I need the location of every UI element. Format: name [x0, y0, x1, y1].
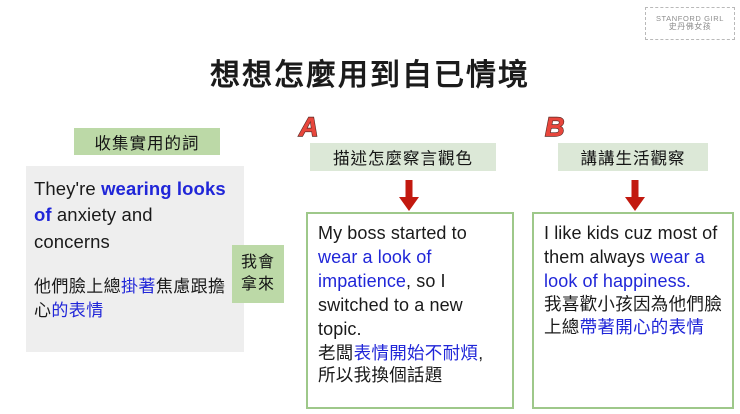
take-it-chip-line2: 拿來	[241, 274, 275, 296]
quote-en-part2: anxiety and concerns	[34, 204, 153, 251]
marker-letter-a: A	[299, 114, 319, 141]
vocab-quote-chinese: 他們臉上總掛著焦慮跟擔心的表情	[34, 275, 232, 324]
slide-root: STANFORD GIRL 史丹佛女孩 想想怎麼用到自已情境 收集實用的詞 Th…	[0, 0, 740, 414]
header-describe-reading-faces: 描述怎麼察言觀色	[310, 143, 496, 171]
mid-zh-part1: 老闆	[318, 343, 354, 363]
quote-en-part1: They're	[34, 178, 101, 199]
vocab-quote-english: They're wearing looks of anxiety and con…	[34, 176, 232, 255]
down-arrow-icon-middle	[398, 180, 420, 212]
example-card-middle: My boss started to wear a look of impati…	[306, 212, 514, 409]
right-zh-highlight: 帶著開心的表情	[580, 317, 705, 337]
down-arrow-icon-right	[624, 180, 646, 212]
example-right-english: I like kids cuz most of them always wear…	[544, 221, 724, 293]
example-card-right: I like kids cuz most of them always wear…	[532, 212, 734, 409]
mid-zh-highlight: 表情開始不耐煩	[354, 343, 479, 363]
quote-zh-highlight2: 的表情	[51, 301, 103, 320]
take-it-chip-line1: 我會	[241, 252, 275, 274]
header-life-observation: 講講生活觀察	[558, 143, 708, 171]
vocab-quote-panel: They're wearing looks of anxiety and con…	[26, 166, 244, 352]
header-collect-words: 收集實用的詞	[74, 128, 220, 155]
take-it-chip: 我會 拿來	[232, 245, 284, 303]
brand-name-zh: 史丹佛女孩	[669, 23, 712, 32]
marker-letter-b: B	[545, 114, 565, 141]
mid-en-part1: My boss started to	[318, 223, 467, 243]
page-title: 想想怎麼用到自已情境	[0, 50, 740, 94]
example-right-chinese: 我喜歡小孩因為他們臉上總帶著開心的表情	[544, 293, 724, 339]
example-middle-chinese: 老闆表情開始不耐煩, 所以我換個話題	[318, 342, 504, 388]
quote-zh-part1: 他們臉上總	[34, 277, 121, 296]
brand-stamp: STANFORD GIRL 史丹佛女孩	[645, 7, 735, 40]
example-middle-english: My boss started to wear a look of impati…	[318, 221, 504, 342]
quote-zh-highlight: 掛著	[121, 277, 156, 296]
